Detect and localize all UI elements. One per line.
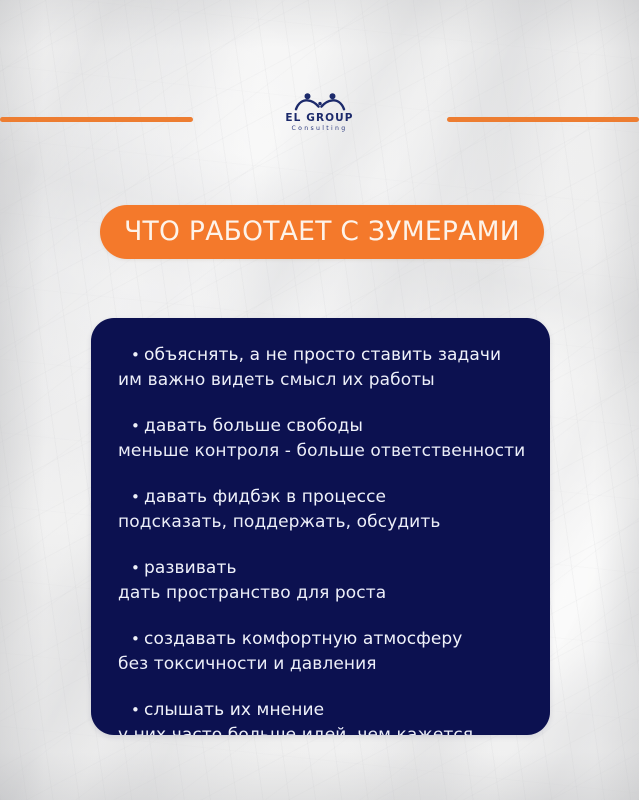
list-item-subtitle: дать пространство для роста [118, 581, 540, 606]
bullet-icon: • [131, 627, 144, 652]
list-item-headline: •давать фидбэк в процессе [118, 485, 540, 510]
page-title: ЧТО РАБОТАЕТ С ЗУМЕРАМИ [124, 219, 520, 246]
list-item-title: объяснять, а не просто ставить задачи [144, 343, 501, 368]
list-item-headline: •объяснять, а не просто ставить задачи [118, 343, 540, 368]
list-item-headline: •развивать [118, 556, 540, 581]
list-item-headline: •слышать их мнение [118, 698, 540, 723]
list-item: •слышать их мнениеу них часто больше иде… [91, 698, 550, 735]
list-item-title: слышать их мнение [144, 698, 324, 723]
brand-logo: EL GROUP Consulting [0, 92, 639, 133]
bullet-icon: • [131, 485, 144, 510]
list-item-subtitle: подсказать, поддержать, обсудить [118, 510, 540, 535]
list-item: •давать больше свободыменьше контроля - … [91, 414, 550, 464]
bullet-icon: • [131, 343, 144, 368]
list-item-subtitle: им важно видеть смысл их работы [118, 368, 540, 393]
list-item-subtitle: меньше контроля - больше ответственности [118, 439, 540, 464]
two-people-handshake-icon [292, 92, 348, 112]
bullet-icon: • [131, 414, 144, 439]
list-item: •давать фидбэк в процессеподсказать, под… [91, 485, 550, 535]
list-item-title: давать фидбэк в процессе [144, 485, 386, 510]
list-item-title: развивать [144, 556, 237, 581]
logo-name: EL GROUP [0, 113, 639, 124]
content-card: •объяснять, а не просто ставить задачиим… [91, 318, 550, 735]
slide-canvas: EL GROUP Consulting ЧТО РАБОТАЕТ С ЗУМЕР… [0, 0, 639, 800]
tips-list: •объяснять, а не просто ставить задачиим… [91, 343, 550, 735]
list-item-headline: •создавать комфортную атмосферу [118, 627, 540, 652]
list-item-subtitle: без токсичности и давления [118, 652, 540, 677]
list-item-title: создавать комфортную атмосферу [144, 627, 462, 652]
logo-subtitle: Consulting [0, 125, 639, 133]
list-item-subtitle: у них часто больше идей, чем кажется [118, 723, 540, 735]
page-title-banner: ЧТО РАБОТАЕТ С ЗУМЕРАМИ [100, 205, 544, 259]
header: EL GROUP Consulting [0, 0, 639, 160]
bullet-icon: • [131, 556, 144, 581]
bullet-icon: • [131, 698, 144, 723]
list-item-headline: •давать больше свободы [118, 414, 540, 439]
list-item: •создавать комфортную атмосферубез токси… [91, 627, 550, 677]
list-item: •развиватьдать пространство для роста [91, 556, 550, 606]
list-item-title: давать больше свободы [144, 414, 363, 439]
list-item: •объяснять, а не просто ставить задачиим… [91, 343, 550, 393]
